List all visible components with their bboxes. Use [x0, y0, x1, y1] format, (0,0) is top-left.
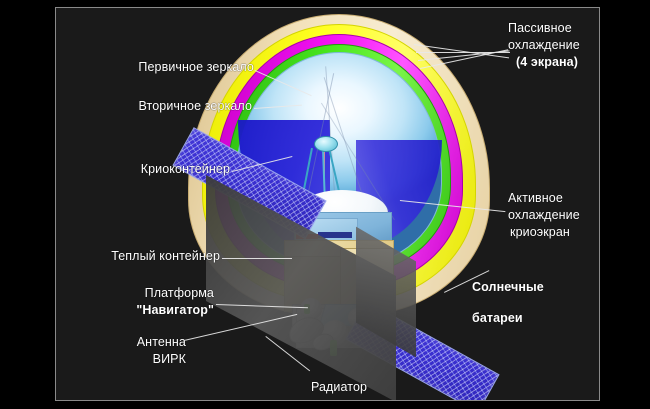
label-primary-mirror: Первичное зеркало — [56, 60, 254, 75]
label-active-cooling-line2: охлаждение — [508, 208, 600, 223]
label-warm-container: Теплый контейнер — [56, 249, 220, 264]
label-secondary-mirror: Вторичное зеркало — [56, 99, 252, 114]
label-platform-line2: "Навигатор" — [56, 303, 214, 318]
label-antenna-line2: ВИРК — [56, 352, 186, 367]
label-active-cooling: Активное охлаждение криоэкран — [508, 191, 600, 236]
diagram-frame: Первичное зеркало Вторичное зеркало Крио… — [55, 7, 600, 401]
label-radiator: Радиатор — [284, 380, 394, 395]
label-solar-panels: Солнечные батареи — [472, 280, 582, 310]
label-active-cooling-line3: криоэкран — [510, 225, 600, 240]
label-passive-cooling-line3: (4 экрана) — [516, 55, 600, 70]
label-passive-cooling-line2: охлаждение — [508, 38, 600, 53]
label-platform-line1: Платформа — [56, 286, 214, 301]
label-platform: Платформа "Навигатор" — [56, 286, 214, 316]
secondary-mirror — [314, 136, 338, 152]
label-antenna: Антенна ВИРК — [56, 335, 186, 365]
label-cryo-container: Криоконтейнер — [56, 162, 230, 177]
diagram-canvas: Первичное зеркало Вторичное зеркало Крио… — [0, 0, 650, 409]
label-passive-cooling-line1: Пассивное — [508, 21, 600, 36]
label-solar-panels-line1: Солнечные — [472, 280, 582, 295]
leader-warm-container — [222, 258, 292, 259]
label-antenna-line1: Антенна — [56, 335, 186, 350]
label-active-cooling-line1: Активное — [508, 191, 600, 206]
label-passive-cooling: Пассивное охлаждение (4 экрана) — [508, 21, 600, 66]
label-solar-panels-line2: батареи — [472, 311, 582, 326]
